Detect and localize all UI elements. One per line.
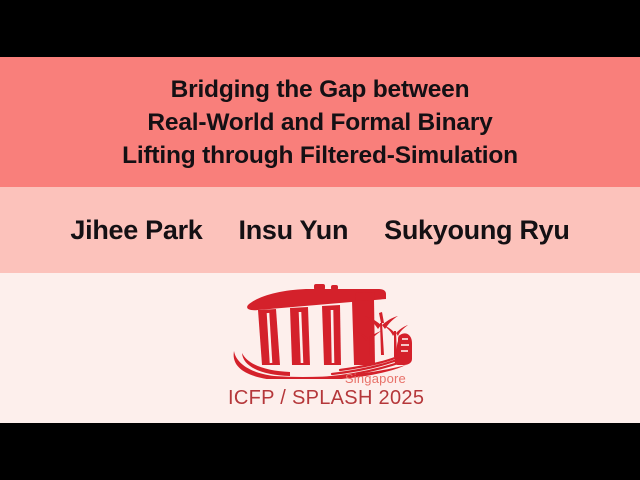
author-list: Jihee Park Insu Yun Sukyoung Ryu: [0, 187, 640, 273]
conference-logo: Singapore ICFP / SPLASH 2025: [228, 279, 414, 419]
author-name: Insu Yun: [239, 215, 349, 246]
letterbox-top-bar: [0, 0, 640, 57]
video-frame: Bridging the Gap between Real-World and …: [0, 0, 640, 480]
author-name: Sukyoung Ryu: [384, 215, 569, 246]
marina-bay-sands-skyline-icon: [228, 279, 414, 379]
author-name: Jihee Park: [70, 215, 202, 246]
title-line-1: Bridging the Gap between: [171, 73, 470, 106]
title-line-2: Real-World and Formal Binary: [147, 106, 492, 139]
presentation-slide: Bridging the Gap between Real-World and …: [0, 57, 640, 423]
title-line-3: Lifting through Filtered-Simulation: [122, 139, 518, 172]
logo-city-label: Singapore: [345, 371, 406, 386]
letterbox-bottom-bar: [0, 423, 640, 480]
page-title: Bridging the Gap between Real-World and …: [0, 57, 640, 187]
logo-wordmark: ICFP / SPLASH 2025: [228, 387, 414, 410]
